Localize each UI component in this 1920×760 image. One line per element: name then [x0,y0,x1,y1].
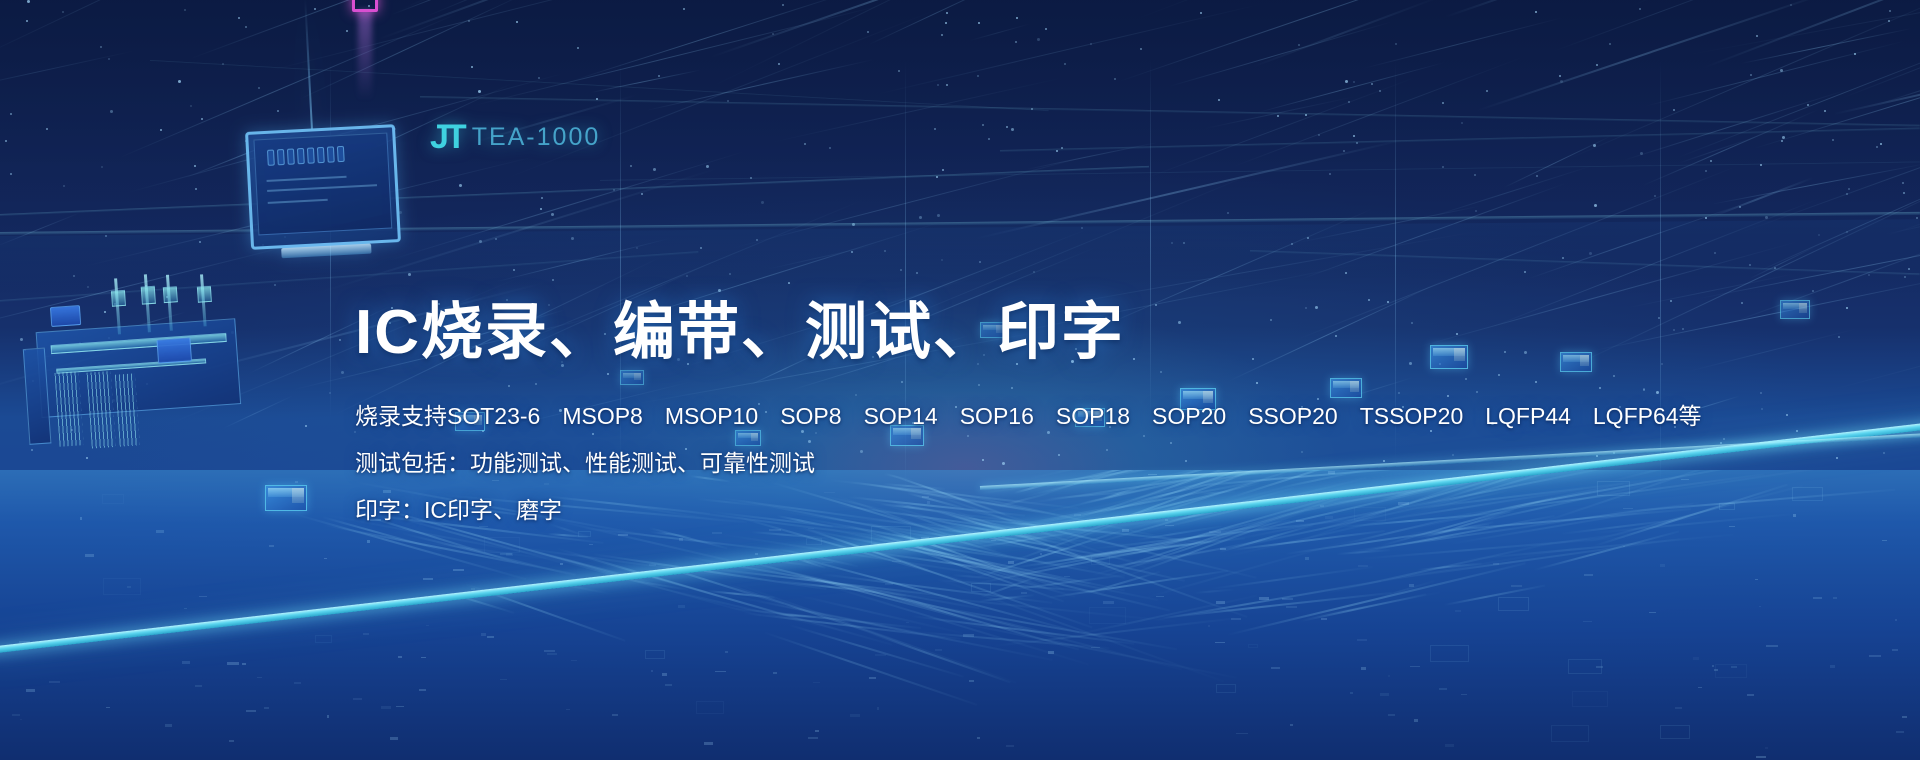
floor-pcb-pad [1623,546,1625,547]
floor-pcb-pad [165,724,172,727]
floor-pcb-pad [1350,692,1353,694]
floor-pcb-pad [1231,618,1241,620]
packages-prefix-label: 烧录支持 [355,403,447,429]
floor-circuit-square [645,650,665,659]
floor-pcb-pad [1006,745,1014,747]
floor-circuit-square [315,635,332,643]
particle-dot [1643,389,1645,391]
screen-chip [287,148,295,164]
floor-pcb-pad [906,622,909,623]
particle-dot [1723,438,1725,440]
hero-text-block: IC烧录、编带、测试、印字 烧录支持SOT23-6MSOP8MSOP10SOP8… [355,300,1555,522]
floor-pcb-pad [560,563,563,565]
floor-pcb-pad [773,672,777,674]
wireframe-monitor-icon [245,124,401,250]
floor-pcb-pad [381,706,391,709]
floor-trace-line [1444,585,1546,606]
floor-pcb-pad [991,540,996,541]
package-label-11: LQFP64等 [1593,405,1702,428]
floor-pcb-pad [1461,694,1467,695]
floor-pcb-pad [547,653,557,655]
floor-pcb-pad [1439,688,1447,690]
floor-pcb-pad [1156,596,1164,597]
floor-pcb-pad [199,596,207,597]
floor-circuit-square [1572,691,1608,707]
particle-dot [1761,408,1763,410]
floor-pcb-pad [1649,612,1656,613]
screen-chip [317,147,325,163]
floor-pcb-pad [813,682,820,683]
floor-pcb-pad [850,714,860,717]
floor-pcb-pad [1766,645,1778,647]
floor-pcb-pad [725,651,728,653]
floor-pcb-pad [227,662,239,665]
package-label-4: SOP14 [864,405,938,428]
screen-bar [267,184,377,192]
floor-pcb-pad [500,679,507,680]
subtitle-line-marking: 印字：IC印字、磨字 [355,499,1555,522]
floor-pcb-pad [1321,618,1327,620]
package-label-5: SOP16 [960,405,1034,428]
floor-pcb-pad [1712,665,1714,667]
particle-dot [1786,414,1788,416]
monitor-screen [253,133,392,236]
floor-pcb-pad [1236,733,1248,734]
floor-pcb-pad [1286,606,1297,608]
floor-pcb-pad [1584,574,1593,576]
machine-head [197,286,212,303]
floor-pcb-pad [246,710,256,712]
floor-pcb-pad [715,671,726,672]
floor-pcb-pad [242,663,246,665]
hero-subtitle-list: 烧录支持SOT23-6MSOP8MSOP10SOP8SOP14SOP16SOP1… [355,405,1555,522]
light-streak [1688,328,1859,372]
floor-pcb-pad [1091,647,1100,648]
particle-dot [1661,363,1663,365]
floor-trace-line [763,631,978,706]
particle-dot [1796,430,1798,432]
floor-pcb-pad [571,660,577,661]
brand-name-text: JT [430,120,464,154]
floor-pcb-pad [269,545,274,547]
floor-circuit-square [102,494,124,504]
floor-circuit-square [1498,597,1529,611]
floor-pcb-pad [1021,592,1027,594]
particle-dot [1682,328,1684,330]
floor-circuit-square [1089,607,1126,624]
floor-pcb-pad [1215,642,1225,643]
floor-pcb-pad [1793,514,1796,517]
floor-pcb-pad [618,534,628,536]
floor-pcb-pad [85,554,94,557]
floor-circuit-square [1597,481,1630,496]
screen-chip [297,148,305,164]
floor-pcb-pad [651,670,653,672]
floor-pcb-pad [1122,529,1129,532]
floor-pcb-pad [662,673,667,676]
floor-pcb-pad [1064,576,1070,577]
floor-pcb-pad [1747,694,1754,696]
page-title: IC烧录、编带、测试、印字 [355,300,1555,365]
floor-pcb-pad [755,553,758,555]
floor-circuit-square [1792,487,1823,501]
particle-dot [1643,388,1645,390]
floor-pcb-pad [808,528,814,529]
floor-pcb-pad [1902,716,1907,718]
floor-pcb-pad [1729,526,1735,527]
floor-pcb-pad [1008,561,1014,564]
floor-circuit-square [1551,725,1589,742]
floor-pcb-pad [20,719,22,720]
pink-ceiling-fixture-icon [352,0,378,12]
floor-pcb-pad [1693,657,1699,660]
floor-pcb-pad [1271,667,1280,669]
floor-pcb-pad [49,681,60,683]
floor-pcb-pad [712,532,722,534]
floor-pcb-pad [396,706,404,707]
floor-pcb-pad [1216,601,1225,604]
floor-pcb-pad [1681,479,1689,480]
floating-chip-icon [265,485,307,511]
floor-pcb-pad [704,742,713,745]
package-label-3: SOP8 [780,405,841,428]
machine-head [111,290,126,307]
floor-pcb-pad [327,715,329,718]
floor-pcb-pad [1361,667,1366,670]
floor-pcb-pad [1358,565,1368,567]
particle-dot [305,425,307,427]
floor-pcb-pad [1813,597,1822,599]
floor-pcb-pad [1755,579,1758,580]
floor-pcb-pad [481,633,486,636]
package-label-9: TSSOP20 [1360,405,1464,428]
particle-dot [1656,391,1659,394]
package-label-2: MSOP10 [665,405,758,428]
package-list: SOT23-6MSOP8MSOP10SOP8SOP14SOP16SOP18SOP… [447,405,1702,428]
floor-pcb-pad [184,608,187,609]
screen-bar [268,199,328,204]
floor-pcb-pad [963,634,974,637]
floor-pcb-pad [969,680,974,682]
machine-tray [55,371,84,446]
floor-pcb-pad [1493,563,1499,565]
floor-pcb-pad [1455,610,1461,612]
floor-pcb-pad [1675,707,1682,709]
floor-pcb-pad [353,698,362,700]
particle-dot [1673,329,1675,331]
floor-pcb-pad [679,538,683,541]
floor-circuit-square [1660,725,1690,739]
floor-pcb-pad [1410,666,1420,667]
particle-dot [1599,387,1601,389]
particle-dot [339,339,341,341]
floor-pcb-pad [544,650,555,652]
floor-pcb-pad [1833,597,1837,599]
floor-circuit-square [1719,503,1735,510]
floor-pcb-pad [1445,744,1454,747]
floor-pcb-pad [877,707,879,710]
floor-pcb-pad [421,657,426,658]
floor-pcb-pad [80,517,82,520]
floor-circuit-square [1430,645,1469,662]
floor-circuit-square [1091,556,1110,565]
particle-dot [1883,452,1885,454]
screen-chip [277,149,285,165]
floor-pcb-pad [1511,585,1522,587]
floor-pcb-pad [1660,564,1665,567]
floor-circuit-square [1568,659,1602,674]
screen-chip [327,146,335,162]
floor-pcb-pad [295,481,298,483]
floor-pcb-pad [1290,724,1293,726]
subtitle-line-testing: 测试包括：功能测试、性能测试、可靠性测试 [355,452,1555,475]
floor-circuit-square [806,538,822,545]
particle-dot [1613,375,1615,377]
floor-circuit-square [484,537,520,553]
floor-pcb-pad [390,737,398,740]
room-pillar [1660,60,1661,500]
floor-circuit-square [103,578,141,595]
floor-trace-line [1378,580,1435,599]
floor-pcb-pad [665,684,672,686]
floor-pcb-pad [294,682,301,684]
floor-pcb-pad [1623,508,1633,509]
floor-pcb-pad [649,564,656,566]
screen-chip [337,146,345,162]
floor-pcb-pad [1759,606,1761,607]
package-label-10: LQFP44 [1485,405,1571,428]
floor-pcb-pad [935,649,942,651]
particle-dot [1741,302,1743,304]
floor-pcb-pad [875,654,886,656]
floor-pcb-pad [12,714,20,716]
floor-pcb-pad [367,540,370,543]
floating-chip-icon [1560,352,1592,372]
pink-light-beam [358,10,372,100]
floor-pcb-pad [977,737,980,739]
floor-pcb-pad [1765,747,1768,749]
floor-pcb-pad [264,707,269,709]
floor-pcb-pad [1583,621,1592,622]
floor-circuit-square [1248,644,1258,648]
floor-circuit-square [696,701,724,714]
floor-pcb-pad [363,633,369,635]
equipment-brand-logo: JT TEA-1000 [430,120,600,154]
machine-head [141,286,156,305]
package-label-7: SOP20 [1152,405,1226,428]
particle-dot [1838,336,1840,338]
floating-chip-icon [1780,300,1810,319]
floor-pcb-pad [1048,651,1054,654]
floor-trace-line [1194,588,1234,594]
floor-circuit-square [578,531,591,537]
ic-handler-machine-icon [4,260,247,466]
floor-pcb-pad [229,740,234,742]
floor-pcb-pad [1414,719,1418,722]
floor-pcb-pad [1040,553,1042,555]
floor-pcb-pad [1895,619,1897,621]
floor-pcb-pad [1698,687,1702,688]
model-number-text: TEA-1000 [472,125,601,150]
floor-pcb-pad [26,689,35,692]
floor-circuit-square [1715,664,1747,678]
floor-pcb-pad [769,529,781,531]
floor-pcb-pad [822,562,833,563]
floor-pcb-pad [1869,655,1881,657]
floor-pcb-pad [1165,525,1174,526]
floor-pcb-pad [1208,625,1210,627]
subtitle-line-packages: 烧录支持SOT23-6MSOP8MSOP10SOP8SOP14SOP16SOP1… [355,405,1555,428]
particle-dot [1846,307,1848,309]
screen-chip [267,150,275,166]
floor-pcb-pad [1388,714,1395,716]
hero-banner: JT TEA-1000 IC烧录、编带、测试、印字 烧录支持SOT23-6MSO… [0,0,1920,760]
particle-dot [1670,300,1672,302]
floor-pcb-pad [419,689,426,691]
floor-pcb-pad [1305,557,1309,560]
floor-pcb-pad [1882,540,1887,541]
particle-dot [341,371,344,374]
floor-pcb-pad [678,605,685,608]
floor-pcb-pad [1756,756,1766,758]
floor-pcb-pad [566,709,570,710]
floor-pcb-pad [1103,601,1114,604]
package-label-1: MSOP8 [562,405,643,428]
machine-module [50,305,81,327]
floor-pcb-pad [500,553,512,555]
floor-pcb-pad [423,578,433,580]
floor-pcb-pad [1282,598,1293,600]
package-label-6: SOP18 [1056,405,1130,428]
floor-pcb-pad [426,625,429,626]
floor-pcb-pad [869,677,876,679]
particle-dot [1760,392,1762,394]
floor-pcb-pad [257,677,262,678]
screen-chip [307,147,315,163]
screen-bar [267,176,347,182]
package-label-0: SOT23-6 [447,405,540,428]
floor-pcb-pad [1388,675,1390,677]
floor-pcb-pad [106,707,110,708]
floor-pcb-pad [453,569,464,571]
floor-pcb-pad [1357,639,1367,641]
floor-pcb-pad [195,685,202,687]
floor-pcb-pad [589,544,593,545]
floor-pcb-pad [324,558,327,559]
floor-pcb-pad [1220,548,1226,550]
floor-pcb-pad [487,636,494,638]
machine-head [163,286,178,303]
floor-pcb-pad [156,530,164,533]
floor-pcb-pad [1830,665,1835,668]
machine-module [156,337,192,363]
floor-pcb-pad [1409,584,1414,587]
package-label-8: SSOP20 [1248,405,1338,428]
floor-pcb-pad [1896,731,1904,733]
floor-pcb-pad [892,561,901,562]
particle-dot [1836,457,1838,459]
screen-chip-row [267,146,345,166]
floor-pcb-pad [479,526,488,527]
floor-pcb-pad [1259,597,1269,600]
floor-pcb-pad [612,714,618,716]
floor-pcb-pad [1209,531,1221,533]
floor-circuit-square [1216,684,1236,693]
floor-pcb-pad [1380,693,1389,696]
floor-trace-line [1337,549,1390,555]
floor-circuit-square [971,583,991,592]
floor-pcb-pad [1892,649,1898,651]
floor-pcb-pad [808,737,818,739]
floor-pcb-pad [815,730,819,732]
floor-pcb-pad [398,656,402,658]
floor-pcb-pad [885,583,893,585]
floor-pcb-pad [182,661,190,664]
